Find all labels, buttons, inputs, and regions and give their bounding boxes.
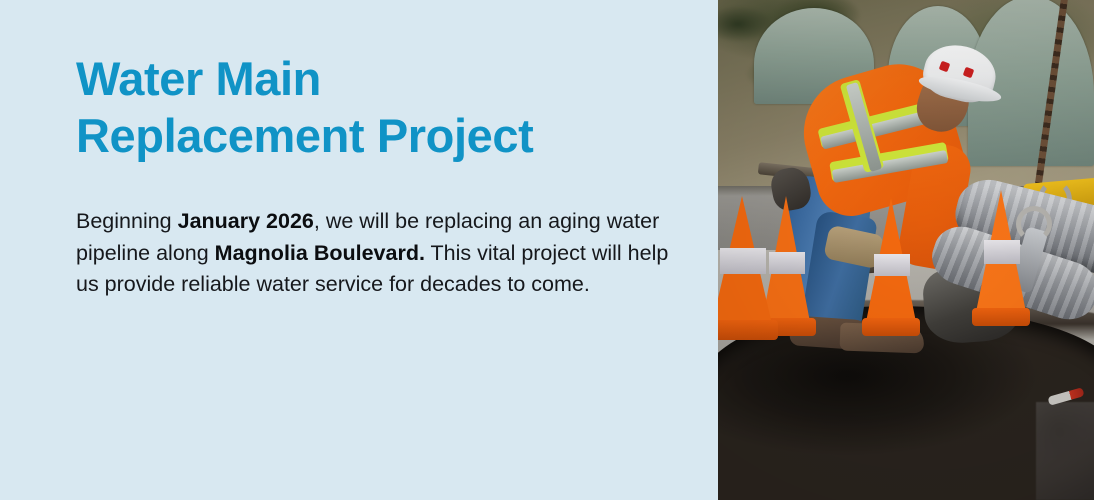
construction-photo [718, 0, 1094, 500]
cone-base [972, 308, 1030, 326]
text-panel: Water Main Replacement Project Beginning… [0, 0, 718, 500]
body-paragraph: Beginning January 2026, we will be repla… [76, 206, 676, 301]
water-main-project-banner: Water Main Replacement Project Beginning… [0, 0, 1094, 500]
traffic-cone [976, 190, 1038, 340]
body-segment-1: Beginning [76, 209, 178, 233]
body-segment-date: January 2026 [178, 209, 314, 233]
body-segment-street: Magnolia Boulevard. [215, 241, 425, 265]
page-title: Water Main Replacement Project [76, 50, 533, 164]
cone-base [862, 318, 920, 336]
traffic-cone [866, 198, 928, 348]
cone-reflective-band [720, 248, 766, 274]
cone-reflective-band [984, 240, 1020, 264]
traffic-cone [718, 196, 786, 346]
cone-reflective-band [874, 254, 910, 276]
asphalt-rubble [1036, 402, 1094, 500]
cone-base [718, 320, 778, 340]
